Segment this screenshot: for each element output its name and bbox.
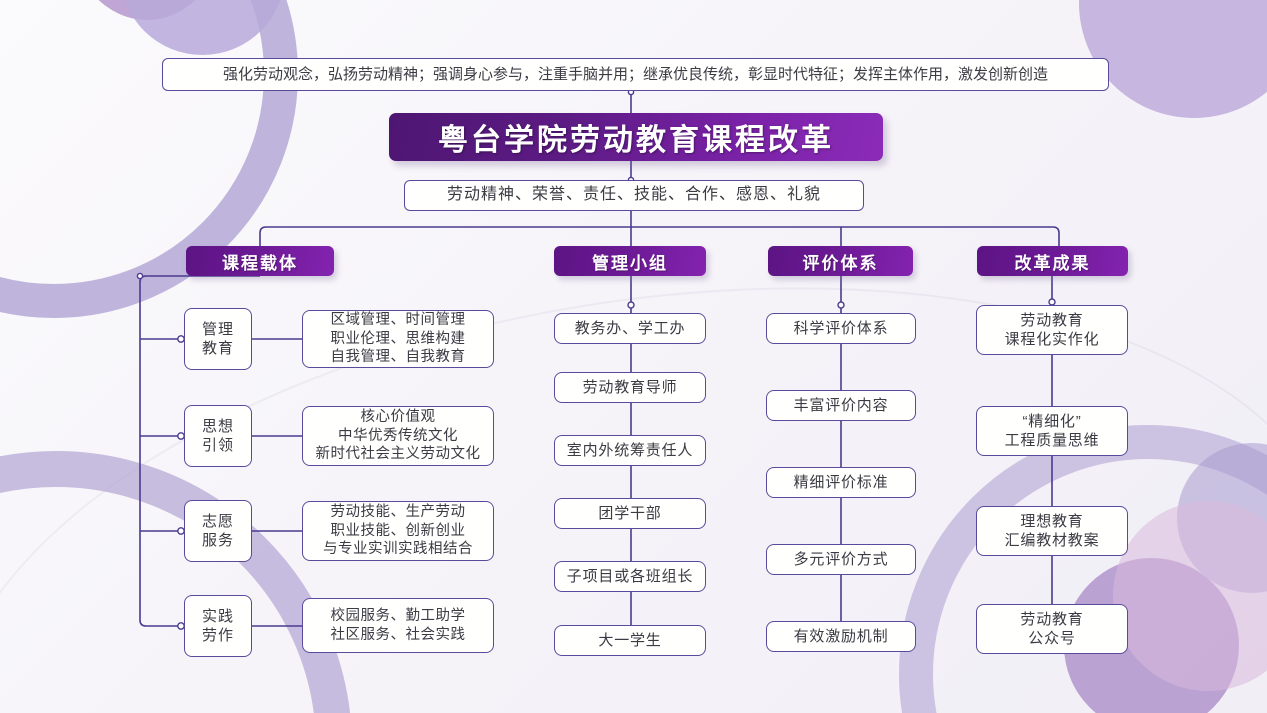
diagram-canvas: 强化劳动观念，弘扬劳动精神；强调身心参与，注重手脑并用；继承优良传统，彰显时代特… [0, 0, 1267, 713]
detail-box: 校园服务、勤工助学社区服务、社会实践 [302, 598, 494, 653]
chain-box[interactable]: 丰富评价内容 [766, 390, 916, 421]
chain-box[interactable]: 教务办、学工办 [554, 313, 706, 344]
connector-dot [628, 302, 634, 308]
top-statement-box: 强化劳动观念，弘扬劳动精神；强调身心参与，注重手脑并用；继承优良传统，彰显时代特… [162, 58, 1109, 91]
connector-dot [137, 273, 142, 278]
column-heading-course-carrier[interactable]: 课程载体 [186, 246, 334, 276]
detail-box: 核心价值观中华优秀传统文化新时代社会主义劳动文化 [302, 406, 494, 466]
detail-box: 区域管理、时间管理职业伦理、思维构建自我管理、自我教育 [302, 310, 494, 368]
connector-dot [838, 302, 844, 308]
chain-box[interactable]: 劳动教育公众号 [976, 604, 1128, 654]
chain-box[interactable]: 科学评价体系 [766, 313, 916, 344]
label-box[interactable]: 思想引领 [184, 405, 252, 467]
chain-box[interactable]: 精细评价标准 [766, 467, 916, 498]
main-title-banner: 粤台学院劳动教育课程改革 [389, 113, 883, 161]
chain-box[interactable]: 团学干部 [554, 498, 706, 529]
column-heading-evaluation-system[interactable]: 评价体系 [768, 246, 913, 276]
label-box[interactable]: 志愿服务 [184, 500, 252, 562]
chain-box[interactable]: 有效激励机制 [766, 621, 916, 652]
detail-box: 劳动技能、生产劳动职业技能、创新创业与专业实训实践相结合 [302, 501, 494, 561]
chain-box[interactable]: “精细化”工程质量思维 [976, 406, 1128, 456]
label-box[interactable]: 管理教育 [184, 308, 252, 370]
chain-box[interactable]: 劳动教育导师 [554, 372, 706, 403]
chain-box[interactable]: 劳动教育课程化实作化 [976, 305, 1128, 355]
label-box[interactable]: 实践劳作 [184, 595, 252, 657]
chain-box[interactable]: 大一学生 [554, 625, 706, 656]
chain-box[interactable]: 子项目或各班组长 [554, 561, 706, 592]
chain-box[interactable]: 理想教育汇编教材教案 [976, 506, 1128, 556]
column-heading-management-team[interactable]: 管理小组 [554, 246, 706, 276]
subtitle-box: 劳动精神、荣誉、责任、技能、合作、感恩、礼貌 [404, 180, 864, 211]
chain-box[interactable]: 室内外统筹责任人 [554, 435, 706, 466]
column-heading-reform-results[interactable]: 改革成果 [977, 246, 1128, 276]
chain-box[interactable]: 多元评价方式 [766, 544, 916, 575]
